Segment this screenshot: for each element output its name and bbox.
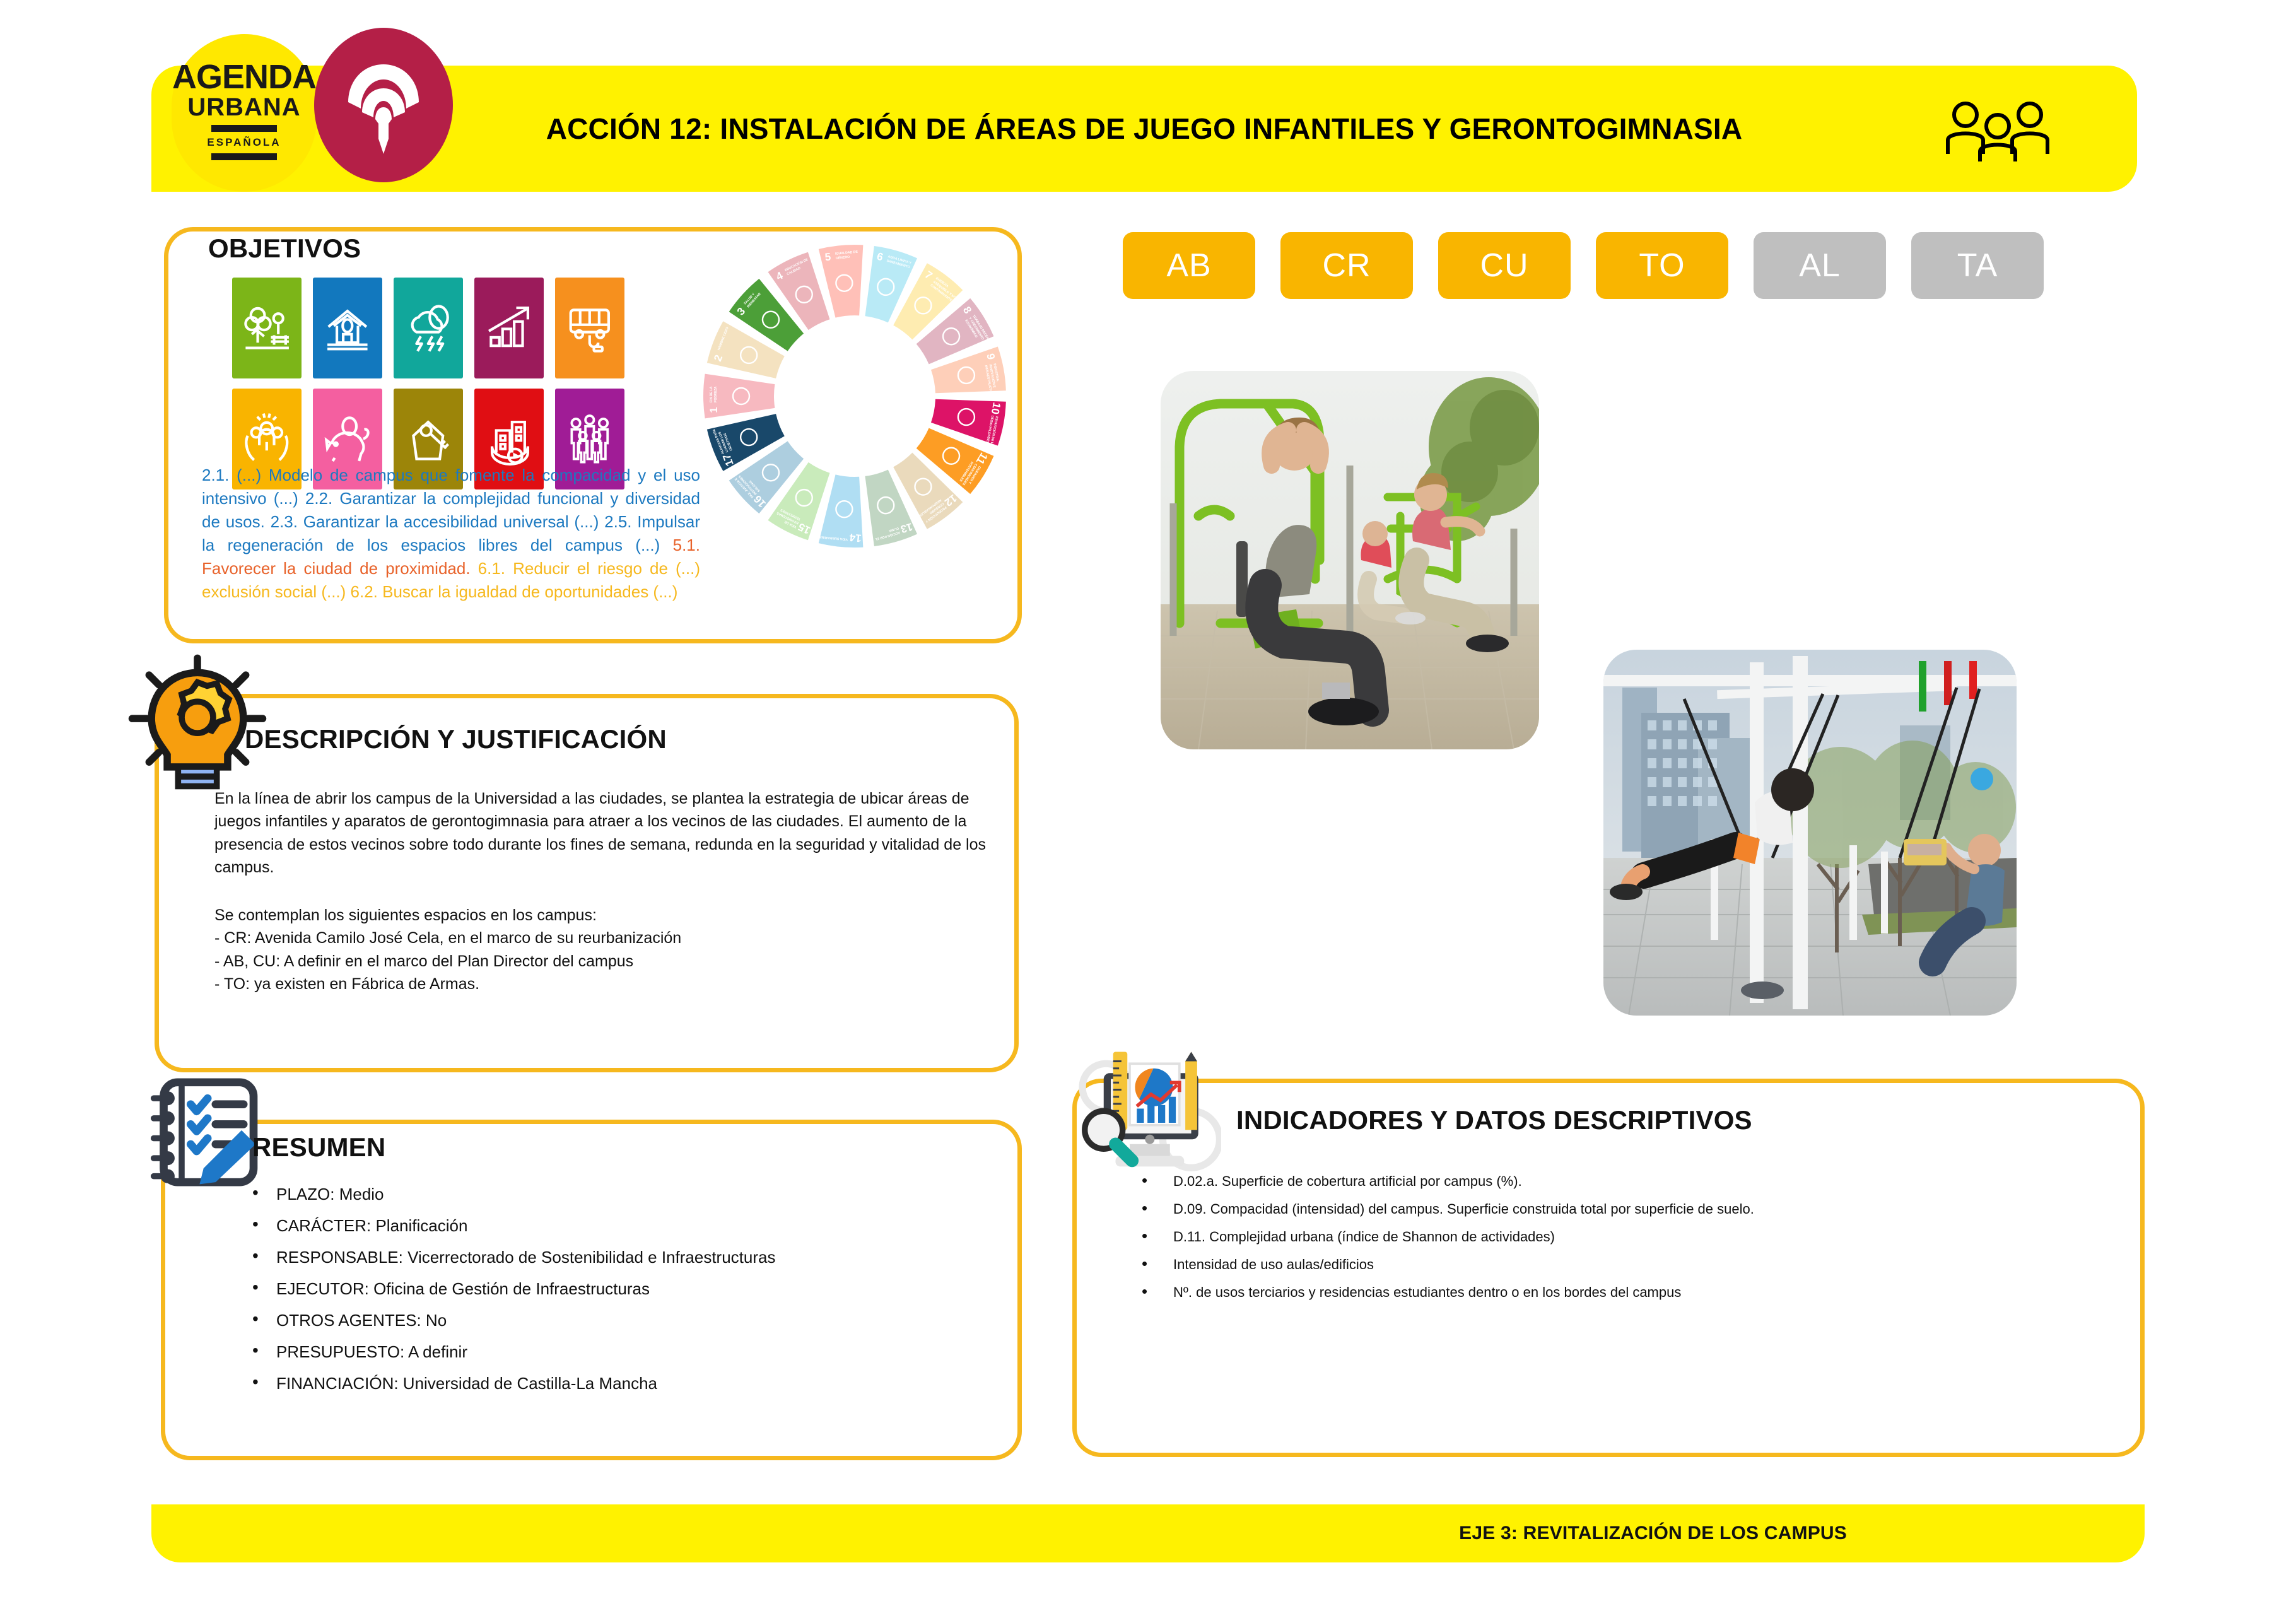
sdg-wheel-icon: 1FIN DE LAPOBREZA2HAMBRE CERO3SALUD YBIE… xyxy=(697,238,1012,554)
monitor-charts-ruler-magnifier-icon xyxy=(1076,1047,1221,1189)
resumen-title: RESUMEN xyxy=(252,1132,385,1163)
logo-line-3: ESPAÑOLA xyxy=(207,136,281,149)
indicador-item: Intensidad de uso aulas/edificios xyxy=(1135,1258,2094,1272)
resumen-item: PRESUPUESTO: A definir xyxy=(246,1344,1003,1360)
indicador-item: D.09. Compacidad (intensidad) del campus… xyxy=(1135,1202,2094,1216)
resumen-item: OTROS AGENTES: No xyxy=(246,1312,1003,1328)
resumen-item: FINANCIACIÓN: Universidad de Castilla-La… xyxy=(246,1375,1003,1392)
campus-tag-cr[interactable]: CR xyxy=(1280,232,1413,299)
indicadores-title: INDICADORES Y DATOS DESCRIPTIVOS xyxy=(1236,1105,1752,1135)
descripcion-bullet: - CR: Avenida Camilo José Cela, en el ma… xyxy=(214,927,1003,949)
svg-text:POBREZA: POBREZA xyxy=(714,386,718,402)
campus-tags: ABCRCUTOALTA xyxy=(1123,232,2044,299)
svg-text:10: 10 xyxy=(989,401,1003,415)
campus-tag-to[interactable]: TO xyxy=(1596,232,1728,299)
indicadores-list: D.02.a. Superficie de cobertura artifici… xyxy=(1135,1175,2094,1313)
svg-text:1: 1 xyxy=(708,407,720,413)
descripcion-bullet: - AB, CU: A definir en el marco del Plan… xyxy=(214,950,1003,973)
resumen-item: EJECUTOR: Oficina de Gestión de Infraest… xyxy=(246,1280,1003,1297)
svg-text:14: 14 xyxy=(848,531,862,544)
objetivos-title: OBJETIVOS xyxy=(208,233,361,264)
campus-tag-cu[interactable]: CU xyxy=(1438,232,1571,299)
descripcion-body: En la línea de abrir los campus de la Un… xyxy=(214,787,1003,995)
climate-storm-icon xyxy=(394,278,463,378)
logo-divider-bottom xyxy=(211,153,277,160)
indicador-item: D.02.a. Superficie de cobertura artifici… xyxy=(1135,1175,2094,1188)
objetivos-text-blue: 2.1. (...) Modelo de campus que fomente … xyxy=(202,466,700,554)
campus-tag-ta[interactable]: TA xyxy=(1911,232,2044,299)
photo-urban-swings xyxy=(1603,650,2017,1016)
people-group-icon xyxy=(1942,98,2055,161)
objetivos-icon-row-1 xyxy=(232,278,636,378)
descripcion-paragraph-2: Se contemplan los siguientes espacios en… xyxy=(214,904,1003,927)
lightbulb-gear-icon xyxy=(125,648,270,794)
resumen-list: PLAZO: MedioCARÁCTER: PlanificaciónRESPO… xyxy=(246,1186,1003,1407)
mobility-ebus-icon xyxy=(555,278,624,378)
logo-divider-top xyxy=(211,125,277,132)
logo-line-1: AGENDA xyxy=(172,61,316,93)
descripcion-paragraph-1: En la línea de abrir los campus de la Un… xyxy=(214,787,1003,879)
indicador-item: D.11. Complejidad urbana (índice de Shan… xyxy=(1135,1230,2094,1244)
footer-text: EJE 3: REVITALIZACIÓN DE LOS CAMPUS xyxy=(1459,1523,1847,1544)
notepad-checklist-pencil-icon xyxy=(144,1072,267,1192)
rocket-signal-icon xyxy=(333,47,434,163)
logo-line-2: URBANA xyxy=(187,94,300,120)
descripcion-bullets: - CR: Avenida Camilo José Cela, en el ma… xyxy=(214,927,1003,995)
indicador-item: Nº. de usos terciarios y residencias est… xyxy=(1135,1286,2094,1299)
descripcion-bullet: - TO: ya existen en Fábrica de Armas. xyxy=(214,973,1003,995)
green-space-icon xyxy=(232,278,302,378)
svg-text:5: 5 xyxy=(824,251,831,264)
campus-tag-ab[interactable]: AB xyxy=(1123,232,1255,299)
resumen-item: CARÁCTER: Planificación xyxy=(246,1217,1003,1234)
economy-growth-icon xyxy=(474,278,544,378)
photo-outdoor-gym xyxy=(1161,371,1539,749)
descripcion-title: DESCRIPCIÓN Y JUSTIFICACIÓN xyxy=(245,724,667,754)
svg-text:FIN DE LA: FIN DE LA xyxy=(710,386,713,402)
resumen-item: PLAZO: Medio xyxy=(246,1186,1003,1202)
objetivos-text: 2.1. (...) Modelo de campus que fomente … xyxy=(202,464,700,603)
footer-bar: EJE 3: REVITALIZACIÓN DE LOS CAMPUS xyxy=(151,1504,2145,1562)
housing-icon xyxy=(313,278,382,378)
campus-tag-al[interactable]: AL xyxy=(1754,232,1886,299)
resumen-item: RESPONSABLE: Vicerrectorado de Sostenibi… xyxy=(246,1249,1003,1265)
agenda-urbana-logo: AGENDA URBANA ESPAÑOLA xyxy=(172,34,317,192)
brand-mark-circle xyxy=(314,28,453,182)
